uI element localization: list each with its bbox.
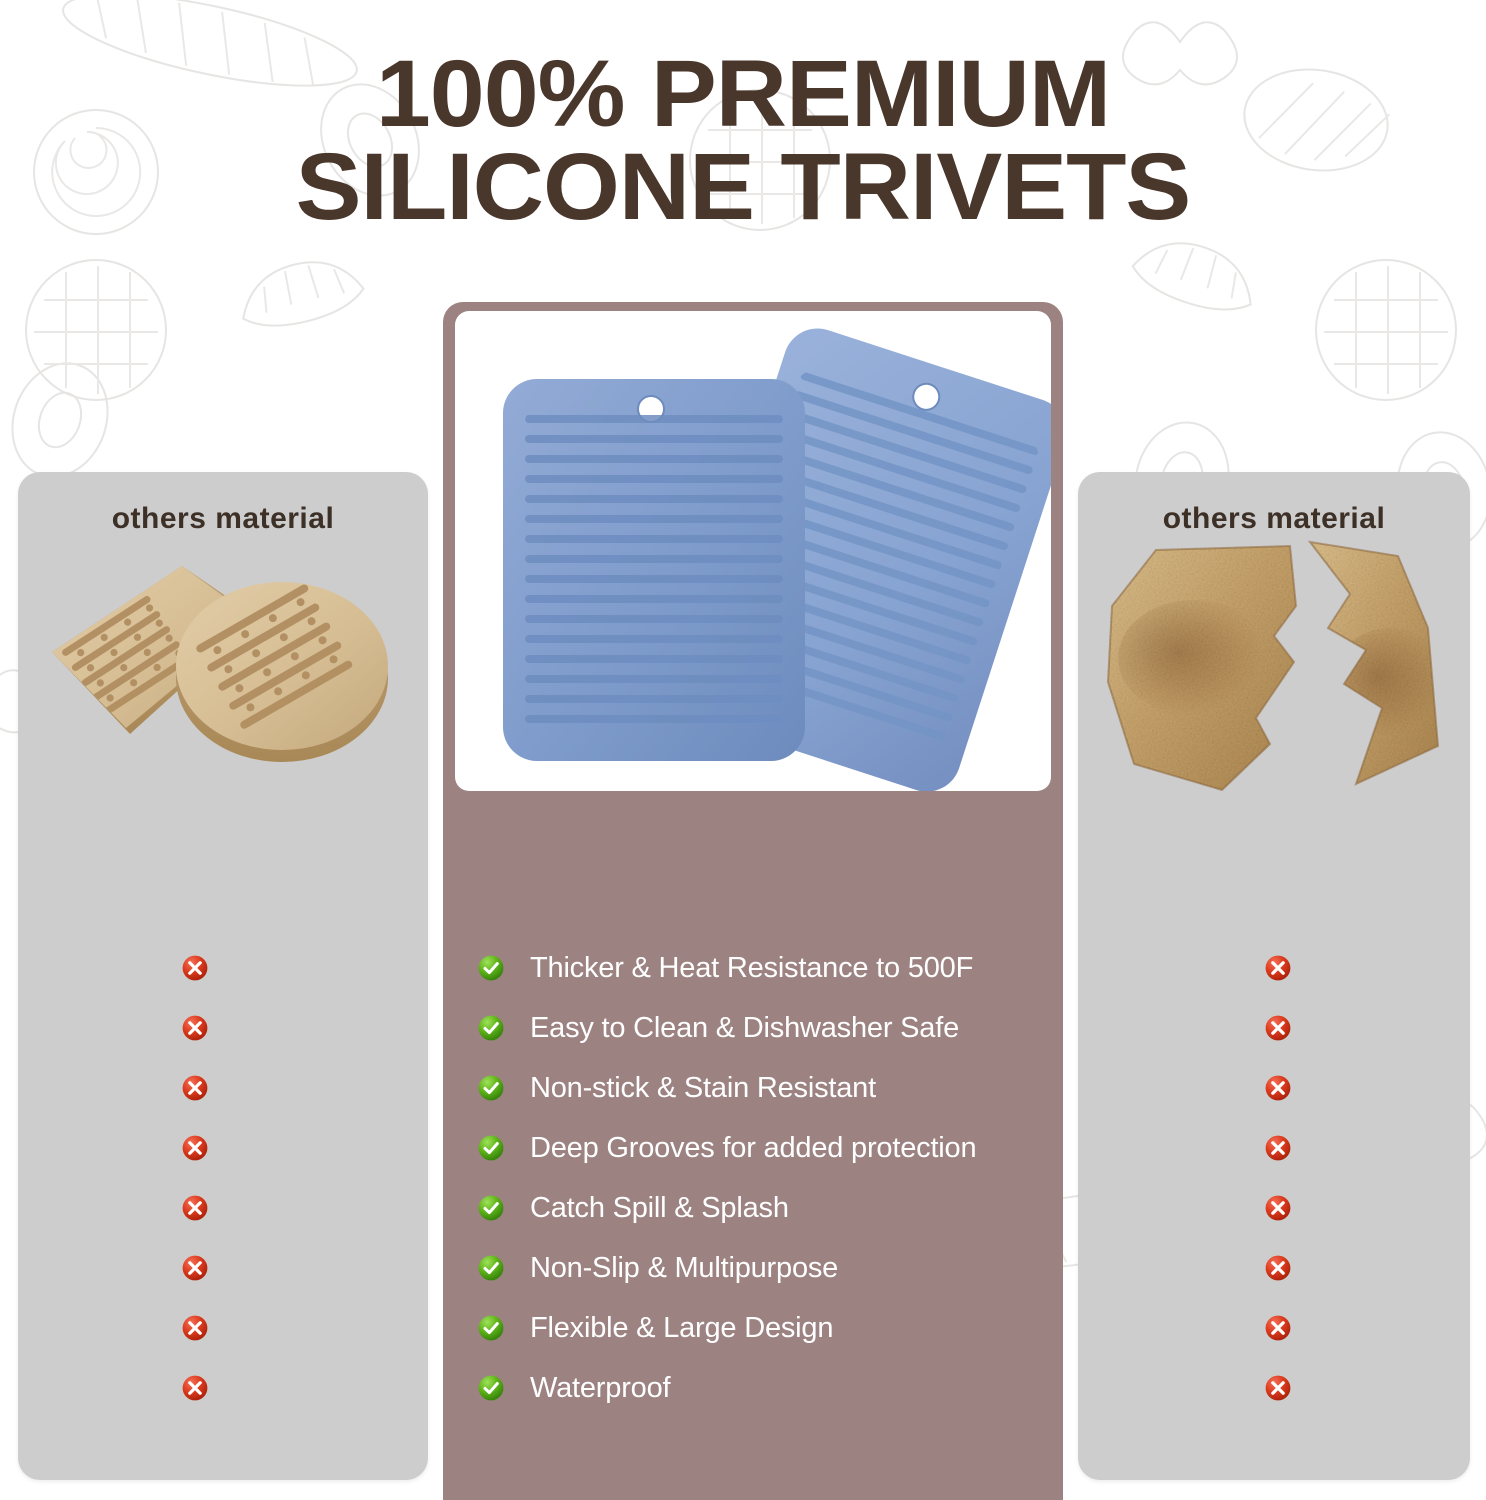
x-marker-row bbox=[1258, 938, 1298, 998]
feature-label: Non-Slip & Multipurpose bbox=[530, 1252, 838, 1285]
x-circle-icon bbox=[182, 1135, 208, 1161]
feature-label: Non-stick & Stain Resistant bbox=[530, 1072, 876, 1105]
feature-row: Easy to Clean & Dishwasher Safe bbox=[478, 998, 1058, 1058]
left-panel-heading: others material bbox=[18, 472, 428, 536]
x-circle-icon bbox=[182, 1375, 208, 1401]
x-circle-icon bbox=[1265, 1015, 1291, 1041]
feature-label: Thicker & Heat Resistance to 500F bbox=[530, 952, 973, 985]
check-circle-icon bbox=[478, 1255, 504, 1281]
check-circle-icon bbox=[478, 1195, 504, 1221]
x-marker-row bbox=[1258, 998, 1298, 1058]
feature-label: Flexible & Large Design bbox=[530, 1312, 833, 1345]
x-marker-row bbox=[175, 1058, 215, 1118]
right-panel-marker-column bbox=[1258, 938, 1298, 1418]
x-marker-row bbox=[175, 938, 215, 998]
bamboo-trivets-image bbox=[34, 556, 396, 796]
check-circle-icon bbox=[478, 1015, 504, 1041]
x-circle-icon bbox=[182, 1195, 208, 1221]
feature-row: Catch Spill & Splash bbox=[478, 1178, 1058, 1238]
feature-row: Non-stick & Stain Resistant bbox=[478, 1058, 1058, 1118]
feature-label: Catch Spill & Splash bbox=[530, 1192, 789, 1225]
feature-row: Flexible & Large Design bbox=[478, 1298, 1058, 1358]
x-marker-row bbox=[1258, 1298, 1298, 1358]
page-title: 100% PREMIUM SILICONE TRIVETS bbox=[0, 48, 1486, 234]
x-circle-icon bbox=[182, 955, 208, 981]
feature-label: Deep Grooves for added protection bbox=[530, 1132, 976, 1165]
feature-row: Non-Slip & Multipurpose bbox=[478, 1238, 1058, 1298]
check-circle-icon bbox=[478, 1135, 504, 1161]
right-panel-heading: others material bbox=[1078, 472, 1470, 536]
x-marker-row bbox=[1258, 1058, 1298, 1118]
broken-cork-trivet-image bbox=[1098, 532, 1454, 798]
title-line-1: 100% PREMIUM bbox=[0, 48, 1486, 141]
x-circle-icon bbox=[1265, 1135, 1291, 1161]
x-marker-row bbox=[1258, 1238, 1298, 1298]
x-circle-icon bbox=[182, 1315, 208, 1341]
x-circle-icon bbox=[182, 1075, 208, 1101]
x-marker-row bbox=[175, 1238, 215, 1298]
feature-row: Thicker & Heat Resistance to 500F bbox=[478, 938, 1058, 998]
feature-row: Waterproof bbox=[478, 1358, 1058, 1418]
x-circle-icon bbox=[1265, 1315, 1291, 1341]
feature-row: Deep Grooves for added protection bbox=[478, 1118, 1058, 1178]
x-circle-icon bbox=[182, 1255, 208, 1281]
title-line-2: SILICONE TRIVETS bbox=[0, 141, 1486, 234]
check-circle-icon bbox=[478, 1315, 504, 1341]
x-circle-icon bbox=[182, 1015, 208, 1041]
feature-label: Easy to Clean & Dishwasher Safe bbox=[530, 1012, 959, 1045]
x-circle-icon bbox=[1265, 955, 1291, 981]
x-marker-row bbox=[175, 1178, 215, 1238]
feature-label: Waterproof bbox=[530, 1372, 670, 1405]
left-panel-marker-column bbox=[175, 938, 215, 1418]
x-marker-row bbox=[175, 1118, 215, 1178]
feature-list: Thicker & Heat Resistance to 500F Easy t… bbox=[478, 938, 1058, 1418]
product-photo-card bbox=[455, 311, 1051, 791]
x-circle-icon bbox=[1265, 1255, 1291, 1281]
x-marker-row bbox=[1258, 1118, 1298, 1178]
x-marker-row bbox=[175, 998, 215, 1058]
x-circle-icon bbox=[1265, 1375, 1291, 1401]
x-circle-icon bbox=[1265, 1195, 1291, 1221]
x-marker-row bbox=[1258, 1358, 1298, 1418]
x-marker-row bbox=[175, 1358, 215, 1418]
x-marker-row bbox=[175, 1298, 215, 1358]
check-circle-icon bbox=[478, 1075, 504, 1101]
check-circle-icon bbox=[478, 955, 504, 981]
x-circle-icon bbox=[1265, 1075, 1291, 1101]
x-marker-row bbox=[1258, 1178, 1298, 1238]
check-circle-icon bbox=[478, 1375, 504, 1401]
